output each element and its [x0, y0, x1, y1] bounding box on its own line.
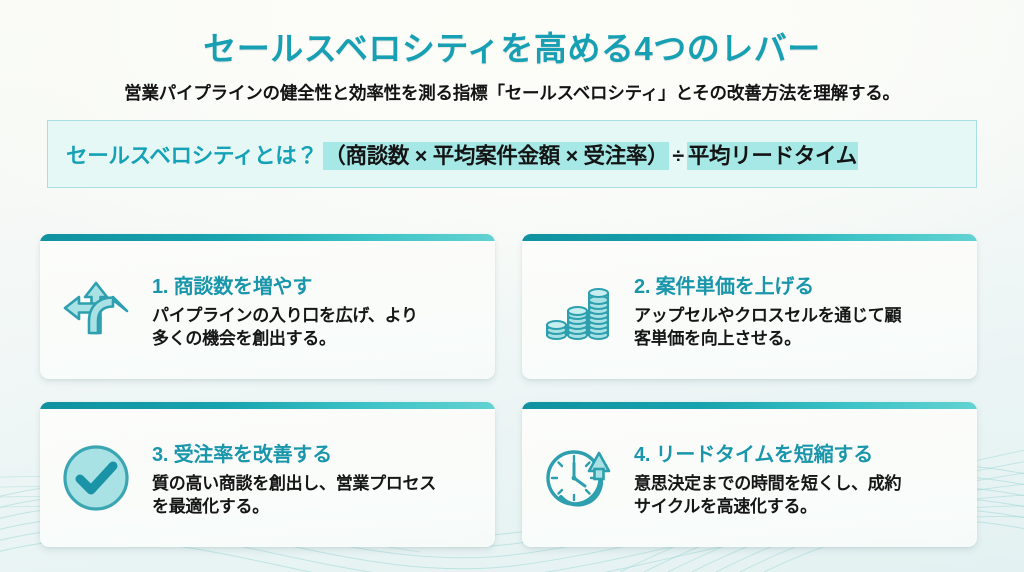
- card-accent-bar: [522, 234, 977, 241]
- card-description-line1: アップセルやクロスセルを通じて顧: [634, 304, 901, 327]
- card-heading: 1. 商談数を増やす: [152, 270, 418, 299]
- page-subtitle: 営業パイプラインの健全性と効率性を測る指標「セールスベロシティ」とその改善方法を…: [0, 80, 1024, 105]
- card-description-line2: を最適化する。: [152, 495, 436, 518]
- formula-expression: セールスベロシティとは？ （商談数 × 平均案件金額 × 受注率）÷平均リードタ…: [66, 139, 858, 170]
- formula-label: セールスベロシティとは？: [66, 144, 318, 168]
- lever-card-2[interactable]: 2. 案件単価を上げる アップセルやクロスセルを通じて顧 客単価を向上させる。: [522, 234, 977, 379]
- card-description: 意思決定までの時間を短くし、成約 サイクルを高速化する。: [634, 472, 901, 519]
- card-accent-bar: [40, 402, 495, 409]
- card-description-line2: サイクルを高速化する。: [634, 495, 901, 518]
- formula-divide-symbol: ÷: [669, 144, 687, 168]
- card-heading: 3. 受注率を改善する: [152, 438, 436, 467]
- card-accent-bar: [40, 234, 495, 241]
- coin-stacks-icon: [522, 241, 634, 379]
- card-accent-bar: [522, 402, 977, 409]
- card-description: アップセルやクロスセルを通じて顧 客単価を向上させる。: [634, 304, 901, 351]
- card-description-line1: パイプラインの入り口を広げ、より: [152, 304, 418, 327]
- lever-card-4[interactable]: 4. リードタイムを短縮する 意思決定までの時間を短くし、成約 サイクルを高速化…: [522, 402, 977, 547]
- formula-banner: セールスベロシティとは？ （商談数 × 平均案件金額 × 受注率）÷平均リードタ…: [47, 120, 977, 188]
- card-description: パイプラインの入り口を広げ、より 多くの機会を創出する。: [152, 304, 418, 351]
- slide-canvas: セールスベロシティを高める4つのレバー 営業パイプラインの健全性と効率性を測る指…: [0, 0, 1024, 572]
- formula-denominator: 平均リードタイム: [687, 142, 858, 170]
- card-description-line2: 多くの機会を創出する。: [152, 327, 418, 350]
- card-heading: 4. リードタイムを短縮する: [634, 438, 901, 467]
- page-title: セールスベロシティを高める4つのレバー: [0, 22, 1024, 70]
- check-circle-icon: [40, 409, 152, 547]
- formula-numerator: （商談数 × 平均案件金額 × 受注率）: [323, 142, 669, 170]
- card-description-line1: 質の高い商談を創出し、営業プロセス: [152, 472, 436, 495]
- three-way-arrow-icon: [40, 241, 152, 379]
- lever-card-1[interactable]: 1. 商談数を増やす パイプラインの入り口を広げ、より 多くの機会を創出する。: [40, 234, 495, 379]
- lever-card-3[interactable]: 3. 受注率を改善する 質の高い商談を創出し、営業プロセス を最適化する。: [40, 402, 495, 547]
- card-description: 質の高い商談を創出し、営業プロセス を最適化する。: [152, 472, 436, 519]
- card-description-line2: 客単価を向上させる。: [634, 327, 901, 350]
- card-heading: 2. 案件単価を上げる: [634, 270, 901, 299]
- clock-arrow-icon: [522, 409, 634, 547]
- card-description-line1: 意思決定までの時間を短くし、成約: [634, 472, 901, 495]
